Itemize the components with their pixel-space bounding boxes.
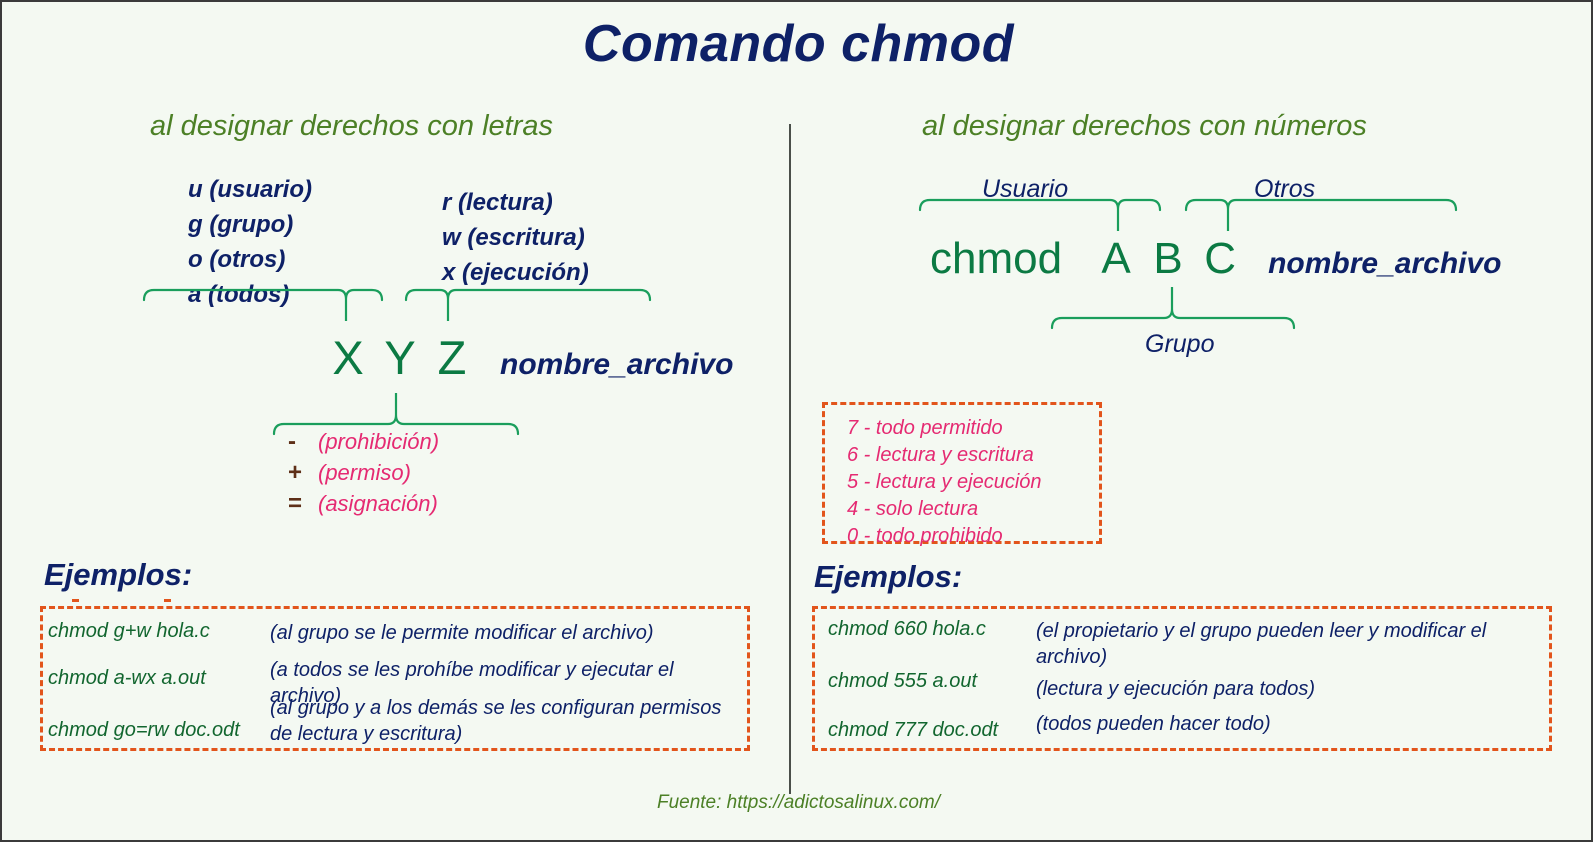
source-footer: Fuente: https://adictosalinux.com/ <box>2 792 1593 814</box>
operator-label: (permiso) <box>318 460 411 485</box>
example-command: chmod 555 a.out <box>828 670 977 693</box>
numbers-legend-item: 4 - solo lectura <box>847 496 1099 523</box>
left-column-header: al designar derechos con letras <box>150 110 553 143</box>
permission-item: x (ejecución) <box>442 255 589 290</box>
numbers-legend-item: 0 - todo prohibido <box>847 523 1099 550</box>
numbers-legend-box: 7 - todo permitido 6 - lectura y escritu… <box>822 402 1102 544</box>
dash-artifact <box>164 599 171 602</box>
infographic-page: Comando chmod al designar derechos con l… <box>0 0 1593 842</box>
example-row: chmod go=rw doc.odt (al grupo y a los de… <box>48 719 240 742</box>
numbers-legend-item: 5 - lectura y ejecución <box>847 469 1099 496</box>
example-row: chmod 660 hola.c (el propietario y el gr… <box>828 618 986 641</box>
page-title: Comando chmod <box>2 14 1593 74</box>
example-row: chmod 555 a.out (lectura y ejecución par… <box>828 670 977 693</box>
syntax-filename: nombre_archivo <box>1268 247 1501 281</box>
example-command: chmod 660 hola.c <box>828 618 986 641</box>
operator-row: -(prohibición) <box>288 426 439 457</box>
operator-symbol: - <box>288 426 318 457</box>
example-row: chmod g+w hola.c (al grupo se le permite… <box>48 620 210 643</box>
brace-label-grupo: Grupo <box>1145 330 1214 359</box>
example-command: chmod go=rw doc.odt <box>48 719 240 742</box>
right-column-header: al designar derechos con números <box>922 110 1367 143</box>
permission-list: r (lectura) w (escritura) x (ejecución) <box>442 185 589 290</box>
brace-label-otros: Otros <box>1254 175 1315 204</box>
who-item: o (otros) <box>188 242 312 277</box>
who-list: u (usuario) g (grupo) o (otros) a (todos… <box>188 172 312 312</box>
example-description: (el propietario y el grupo pueden leer y… <box>1036 618 1496 670</box>
permission-item: w (escritura) <box>442 220 589 255</box>
numbers-legend-item: 7 - todo permitido <box>847 415 1099 442</box>
brace-perms <box>406 290 650 321</box>
numbers-legend-list: 7 - todo permitido 6 - lectura y escritu… <box>825 405 1099 550</box>
numbers-legend-item: 6 - lectura y escritura <box>847 442 1099 469</box>
operator-label: (prohibición) <box>318 429 439 454</box>
example-command: chmod g+w hola.c <box>48 620 210 643</box>
brace-usuario <box>920 200 1160 231</box>
column-divider <box>789 124 791 794</box>
example-description: (al grupo y a los demás se les configura… <box>270 695 735 747</box>
example-description: (al grupo se le permite modificar el arc… <box>270 620 700 646</box>
numeric-syntax-row: chmod A B C nombre_archivo <box>930 234 1502 284</box>
who-item: g (grupo) <box>188 207 312 242</box>
who-item: a (todos) <box>188 277 312 312</box>
brace-grupo <box>1052 287 1294 328</box>
left-examples-label: Ejemplos: <box>44 557 192 593</box>
example-command: chmod a-wx a.out <box>48 667 206 690</box>
syntax-c: C <box>1194 234 1246 284</box>
operator-label: (asignación) <box>318 491 438 516</box>
right-examples-label: Ejemplos: <box>814 559 962 595</box>
letter-syntax-row: X Y Z nombre_archivo <box>322 330 733 385</box>
permission-item: r (lectura) <box>442 185 589 220</box>
syntax-y: Y <box>374 330 426 385</box>
syntax-filename: nombre_archivo <box>500 348 733 382</box>
syntax-b: B <box>1142 234 1194 284</box>
example-description: (todos pueden hacer todo) <box>1036 711 1496 737</box>
operator-list: -(prohibición) +(permiso) =(asignación) <box>288 426 439 519</box>
brace-label-usuario: Usuario <box>982 175 1068 204</box>
brace-otros <box>1186 200 1456 231</box>
operator-row: =(asignación) <box>288 488 439 519</box>
example-row: chmod a-wx a.out (a todos se les prohíbe… <box>48 667 206 690</box>
syntax-x: X <box>322 330 374 385</box>
dash-artifact <box>72 599 79 602</box>
operator-row: +(permiso) <box>288 457 439 488</box>
operator-symbol: = <box>288 488 318 519</box>
operator-symbol: + <box>288 457 318 488</box>
who-item: u (usuario) <box>188 172 312 207</box>
syntax-z: Z <box>426 330 478 385</box>
example-row: chmod 777 doc.odt (todos pueden hacer to… <box>828 719 998 742</box>
syntax-command: chmod <box>930 234 1062 284</box>
example-command: chmod 777 doc.odt <box>828 719 998 742</box>
example-description: (lectura y ejecución para todos) <box>1036 676 1496 702</box>
syntax-a: A <box>1090 234 1142 284</box>
